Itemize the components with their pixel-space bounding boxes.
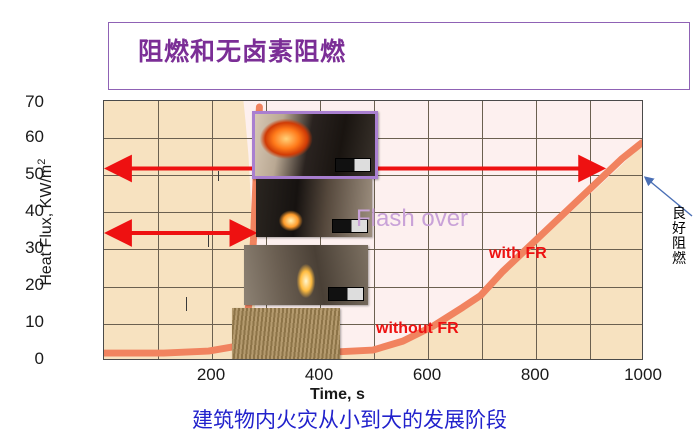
y-tick-label: 10 [4,312,44,332]
without-fr-label: without FR [376,320,459,338]
x-tick-label: 200 [181,365,241,385]
x-tick-label: 1000 [613,365,673,385]
x-tick-label: 600 [397,365,457,385]
page-title: 阻燃和无卤素阻燃 [138,32,346,68]
y-axis-label: Heat Flux, KW/m2 [36,142,56,302]
y-tick-label: 0 [4,349,44,369]
photo-inset-marker [328,287,364,301]
photo-small-fire [244,245,368,305]
plot-area: Flash over with FR without FR [103,100,643,360]
photo-inset-marker [335,158,371,172]
right-note-label: 良好阻燃 [672,207,692,267]
y-axis-label-text: Heat Flux, KW/m [38,165,55,286]
chart-container: 70 60 50 40 30 20 10 0 Heat Flux, KW/m2 [0,92,699,382]
photo-ignition-match [232,308,340,360]
y-tick-label: 70 [4,92,44,112]
photo-flashover-fire [252,111,378,179]
with-fr-label: with FR [489,245,547,263]
x-tick-label: 800 [505,365,565,385]
slide-caption: 建筑物内火灾从小到大的发展阶段 [0,404,699,434]
y-axis-label-sup: 2 [36,159,48,165]
x-axis-label: Time, s [310,386,365,404]
photo-connector [208,235,209,247]
photo-connector [186,297,187,311]
photo-growing-fire [256,179,372,237]
x-tick-label: 400 [289,365,349,385]
flashover-label: Flash over [356,205,468,233]
photo-connector [218,171,219,181]
